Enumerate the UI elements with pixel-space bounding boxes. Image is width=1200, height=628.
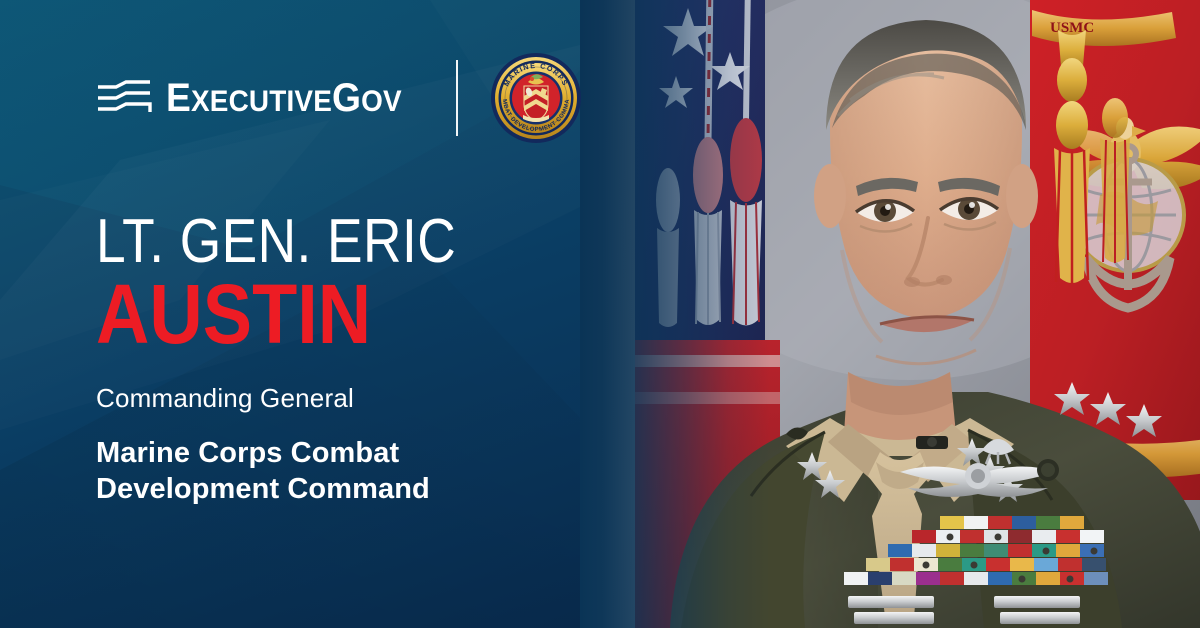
speaker-announcement-card: USMC bbox=[0, 0, 1200, 628]
speaker-surname: AUSTIN bbox=[96, 276, 554, 353]
header: EXECUTIVEGOV bbox=[96, 55, 582, 141]
executivegov-logo[interactable]: EXECUTIVEGOV bbox=[96, 78, 420, 118]
marine-corps-combat-development-command-seal-icon: MARINE CORPS COMBAT DEVELOPMENT COMMAND bbox=[490, 52, 582, 144]
executivegov-wordmark: EXECUTIVEGOV bbox=[166, 78, 402, 118]
speaker-role: Commanding General bbox=[96, 383, 616, 414]
organization-line-1: Marine Corps Combat bbox=[96, 436, 616, 472]
title-block: LT. GEN. ERIC AUSTIN Commanding General … bbox=[96, 212, 616, 508]
vertical-divider bbox=[456, 60, 458, 136]
wave-lines-icon bbox=[96, 78, 152, 118]
speaker-rank: LT. GEN. ERIC bbox=[96, 212, 543, 272]
organization-line-2: Development Command bbox=[96, 472, 616, 508]
portrait-photo: USMC bbox=[580, 0, 1200, 628]
speaker-organization: Marine Corps Combat Development Command bbox=[96, 436, 616, 508]
